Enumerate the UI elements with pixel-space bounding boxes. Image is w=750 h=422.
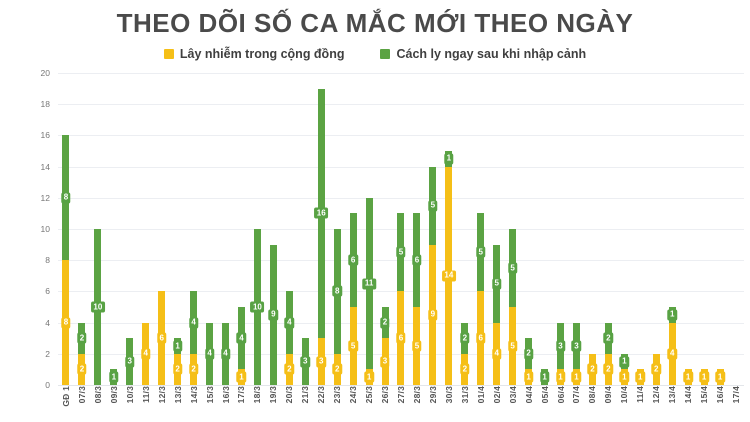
bar-stack: 42: [190, 291, 197, 385]
bar-column[interactable]: 31: [569, 73, 585, 385]
bar-segment-community[interactable]: 1: [238, 369, 245, 385]
bar-segment-community[interactable]: 5: [350, 307, 357, 385]
bar-column[interactable]: 2: [584, 73, 600, 385]
bar-segment-quarantine[interactable]: 3: [573, 323, 580, 370]
x-axis-tick: 29/3: [425, 386, 441, 422]
bar-stack: 21: [525, 338, 532, 385]
bar-value-label: 2: [524, 348, 533, 359]
bar-stack: 22: [461, 323, 468, 385]
bar-column[interactable]: 12: [170, 73, 186, 385]
y-axis-tick: 12: [41, 193, 50, 203]
bar-column[interactable]: 4: [218, 73, 234, 385]
bar-segment-community[interactable]: 2: [334, 354, 341, 385]
bar-column[interactable]: 65: [345, 73, 361, 385]
bar-segment-community[interactable]: 9: [429, 245, 436, 385]
bar-segment-community[interactable]: 2: [605, 354, 612, 385]
x-axis-tick: 19/3: [265, 386, 281, 422]
bar-column[interactable]: 1: [632, 73, 648, 385]
bar-segment-community[interactable]: 3: [318, 338, 325, 385]
bar-column[interactable]: 65: [409, 73, 425, 385]
x-axis-tick: 30/3: [441, 386, 457, 422]
x-axis-label: 07/3: [77, 386, 87, 403]
x-axis-label: 25/3: [364, 386, 374, 403]
bar-segment-community[interactable]: 1: [366, 369, 373, 385]
bar-segment-quarantine[interactable]: 1: [445, 151, 452, 167]
x-axis-label: 08/3: [93, 386, 103, 403]
bar-segment-quarantine[interactable]: 5: [477, 213, 484, 291]
x-axis-tick: 16/3: [218, 386, 234, 422]
bar-column[interactable]: 111: [361, 73, 377, 385]
bar-column[interactable]: 22: [74, 73, 90, 385]
plot-area: 02468101214161820 8822101346124244411094…: [32, 73, 744, 385]
x-axis-tick: 07/4: [569, 386, 585, 422]
bar-value-label: 1: [620, 356, 629, 367]
y-axis-tick: 6: [45, 286, 50, 296]
x-axis-tick: 03/4: [505, 386, 521, 422]
bar-segment-community[interactable]: 1: [621, 369, 628, 385]
bar-column[interactable]: 4: [138, 73, 154, 385]
x-axis-tick: 20/3: [281, 386, 297, 422]
bar-value-label: 14: [442, 270, 456, 281]
bar-stack: 42: [286, 291, 293, 385]
bar-value-label: 1: [572, 372, 581, 383]
bar-column[interactable]: 82: [329, 73, 345, 385]
x-axis-label: 02/4: [492, 386, 502, 403]
bar-segment-quarantine[interactable]: 4: [190, 291, 197, 353]
bar-column[interactable]: 1: [680, 73, 696, 385]
bar-segment-quarantine[interactable]: 6: [350, 213, 357, 307]
bar-value-label: 16: [314, 208, 328, 219]
bar-value-label: 4: [189, 317, 198, 328]
bar-value-label: 5: [476, 247, 485, 258]
bar-stack: 1: [541, 369, 548, 385]
bar-segment-community[interactable]: 1: [525, 369, 532, 385]
x-axis-label: 15/3: [205, 386, 215, 403]
bar-column[interactable]: 10: [249, 73, 265, 385]
bar-value-label: 4: [667, 348, 676, 359]
bar-segment-community[interactable]: 2: [589, 354, 596, 385]
bar-segment-quarantine[interactable]: 6: [413, 213, 420, 307]
bar-value-label: 1: [636, 372, 645, 383]
bar-value-label: 1: [620, 372, 629, 383]
bar-value-label: 2: [652, 364, 661, 375]
legend-label-community: Lây nhiễm trong cộng đồng: [180, 47, 345, 61]
bar-stack: 9: [270, 245, 277, 385]
bar-column[interactable]: 22: [600, 73, 616, 385]
x-axis-label: 20/3: [284, 386, 294, 403]
bar-segment-quarantine[interactable]: 4: [222, 323, 229, 385]
bar-value-label: 1: [667, 309, 676, 320]
x-axis-tick: 25/3: [361, 386, 377, 422]
bar-stack: 4: [206, 323, 213, 385]
bar-value-label: 4: [141, 348, 150, 359]
chart-legend: Lây nhiễm trong cộng đồng Cách ly ngay s…: [0, 47, 750, 61]
y-axis-tick: 2: [45, 349, 50, 359]
bar-segment-quarantine[interactable]: 5: [509, 229, 516, 307]
x-axis-tick: 22/3: [313, 386, 329, 422]
x-axis-label: 22/3: [316, 386, 326, 403]
x-axis-tick: 16/4: [712, 386, 728, 422]
bar-column[interactable]: 11: [616, 73, 632, 385]
bar-segment-community[interactable]: 1: [637, 369, 644, 385]
bar-value-label: 6: [157, 333, 166, 344]
bar-value-label: 2: [77, 333, 86, 344]
x-axis-label: 16/4: [715, 386, 725, 403]
x-axis-tick: 06/4: [553, 386, 569, 422]
bar-segment-community[interactable]: 2: [78, 354, 85, 385]
legend-swatch-community: [164, 49, 174, 59]
bar-column[interactable]: 3: [297, 73, 313, 385]
x-axis-label: 14/4: [683, 386, 693, 403]
x-axis-tick: 28/3: [409, 386, 425, 422]
bar-stack: 65: [413, 213, 420, 385]
x-axis-label: 16/3: [221, 386, 231, 403]
bar-segment-quarantine[interactable]: 5: [493, 245, 500, 323]
x-axis-tick: 05/4: [537, 386, 553, 422]
y-axis-tick: 4: [45, 318, 50, 328]
bar-segment-community[interactable]: 4: [142, 323, 149, 385]
bar-value-label: 3: [572, 341, 581, 352]
bar-stack: 10: [254, 229, 261, 385]
bar-stack: 55: [509, 229, 516, 385]
bar-segment-quarantine[interactable]: 3: [557, 323, 564, 370]
bar-segment-quarantine[interactable]: 10: [94, 229, 101, 385]
x-axis-label: 14/3: [189, 386, 199, 403]
bar-column[interactable]: 88: [58, 73, 74, 385]
x-axis-tick: 10/4: [616, 386, 632, 422]
bar-value-label: 5: [508, 263, 517, 274]
bar-stack: 10: [94, 229, 101, 385]
bar-value-label: 3: [125, 356, 134, 367]
bar-segment-community[interactable]: 5: [413, 307, 420, 385]
x-axis-tick: 09/4: [600, 386, 616, 422]
bar-segment-community[interactable]: 1: [685, 369, 692, 385]
bar-value-label: 1: [109, 372, 118, 383]
bar-stack: 111: [366, 198, 373, 385]
bar-segment-quarantine[interactable]: 2: [605, 323, 612, 354]
bar-stack: 114: [445, 151, 452, 385]
bar-stack: 2: [653, 354, 660, 385]
bar-segment-community[interactable]: 2: [653, 354, 660, 385]
x-axis-tick: 13/3: [170, 386, 186, 422]
bar-segment-quarantine[interactable]: 4: [238, 307, 245, 369]
bar-column[interactable]: 42: [281, 73, 297, 385]
bar-segment-community[interactable]: 2: [461, 354, 468, 385]
bar-segment-community[interactable]: 2: [286, 354, 293, 385]
x-axis: GĐ 107/308/309/310/311/312/313/314/315/3…: [58, 386, 744, 422]
bar-column[interactable]: 163: [313, 73, 329, 385]
bar-stack: 23: [382, 307, 389, 385]
x-axis-label: 10/4: [619, 386, 629, 403]
bar-stack: 82: [334, 229, 341, 385]
x-axis-label: 10/3: [125, 386, 135, 403]
bar-value-label: 5: [412, 341, 421, 352]
bar-column[interactable]: 56: [393, 73, 409, 385]
x-axis-label: 26/3: [380, 386, 390, 403]
x-axis-label: 31/3: [460, 386, 470, 403]
bar-stack: 11: [621, 354, 628, 385]
bar-segment-quarantine[interactable]: 8: [62, 135, 69, 260]
bar-value-label: 6: [348, 255, 357, 266]
bar-value-label: 5: [348, 341, 357, 352]
bar-segment-quarantine[interactable]: 8: [334, 229, 341, 354]
bar-value-label: 8: [332, 286, 341, 297]
x-axis-label: 09/3: [109, 386, 119, 403]
bar-segment-community[interactable]: 6: [397, 291, 404, 385]
bar-value-label: 1: [699, 372, 708, 383]
bar-value-label: 2: [189, 364, 198, 375]
x-axis-label: 19/3: [268, 386, 278, 403]
x-axis-tick: 17/4: [728, 386, 744, 422]
bar-value-label: 2: [173, 364, 182, 375]
bar-value-label: 8: [61, 317, 70, 328]
x-axis-label: 29/3: [428, 386, 438, 403]
bar-segment-quarantine[interactable]: 1: [621, 354, 628, 370]
bar-value-label: 9: [428, 309, 437, 320]
bar-value-label: 8: [61, 192, 70, 203]
legend-swatch-quarantine: [380, 49, 390, 59]
x-axis-tick: 24/3: [345, 386, 361, 422]
bar-segment-community[interactable]: 2: [190, 354, 197, 385]
bar-column[interactable]: 22: [457, 73, 473, 385]
bar-stack: 1: [701, 369, 708, 385]
bar-column[interactable]: 3: [122, 73, 138, 385]
bar-value-label: 4: [285, 317, 294, 328]
x-axis-label: 12/3: [157, 386, 167, 403]
bar-column[interactable]: 6: [154, 73, 170, 385]
bar-value-label: 1: [683, 372, 692, 383]
bar-column[interactable]: 54: [489, 73, 505, 385]
bar-segment-quarantine[interactable]: 10: [254, 229, 261, 385]
x-axis-tick: 09/3: [106, 386, 122, 422]
legend-item-community[interactable]: Lây nhiễm trong cộng đồng: [164, 47, 345, 61]
bar-value-label: 3: [380, 356, 389, 367]
bar-segment-quarantine[interactable]: 2: [525, 338, 532, 369]
x-axis-label: 30/3: [444, 386, 454, 403]
x-axis-label: 12/4: [651, 386, 661, 403]
x-axis-tick: 31/3: [457, 386, 473, 422]
bar-column[interactable]: 21: [521, 73, 537, 385]
bar-value-label: 5: [396, 247, 405, 258]
x-axis-label: 03/4: [508, 386, 518, 403]
bar-segment-quarantine[interactable]: 4: [286, 291, 293, 353]
bar-stack: 3: [126, 338, 133, 385]
bar-value-label: 5: [428, 200, 437, 211]
y-axis-tick: 8: [45, 255, 50, 265]
x-axis-label: 13/3: [173, 386, 183, 403]
x-axis-tick: 12/3: [154, 386, 170, 422]
chart-title: THEO DÕI SỐ CA MẮC MỚI THEO NGÀY: [0, 8, 750, 39]
x-axis-tick: 11/4: [632, 386, 648, 422]
bar-stack: 14: [669, 307, 676, 385]
bar-stack: 22: [605, 323, 612, 385]
bar-value-label: 2: [604, 364, 613, 375]
bar-stack: 12: [174, 338, 181, 385]
bar-column[interactable]: 114: [441, 73, 457, 385]
bar-segment-quarantine[interactable]: 3: [126, 338, 133, 385]
x-axis-label: 13/4: [667, 386, 677, 403]
x-axis-tick: 13/4: [664, 386, 680, 422]
bar-column[interactable]: 10: [90, 73, 106, 385]
bar-segment-community[interactable]: 1: [717, 369, 724, 385]
bar-stack: 41: [238, 307, 245, 385]
y-axis-tick: 14: [41, 162, 50, 172]
bar-segment-community[interactable]: 1: [701, 369, 708, 385]
bar-stack: 31: [573, 323, 580, 385]
bar-value-label: 3: [301, 356, 310, 367]
x-axis-tick: 15/4: [696, 386, 712, 422]
x-axis-label: 17/3: [236, 386, 246, 403]
x-axis-label: 15/4: [699, 386, 709, 403]
x-axis-label: 06/4: [556, 386, 566, 403]
x-axis-label: 01/4: [476, 386, 486, 403]
x-axis-label: 11/3: [141, 386, 151, 403]
bar-column[interactable]: 1: [537, 73, 553, 385]
bar-value-label: 1: [556, 372, 565, 383]
bar-segment-quarantine[interactable]: 9: [270, 245, 277, 385]
bar-column[interactable]: 1: [712, 73, 728, 385]
x-axis-label: 11/4: [635, 386, 645, 403]
legend-label-quarantine: Cách ly ngay sau khi nhập cảnh: [396, 47, 586, 61]
x-axis-label: 21/3: [300, 386, 310, 403]
chart-container: THEO DÕI SỐ CA MẮC MỚI THEO NGÀY Lây nhi…: [0, 0, 750, 422]
x-axis-tick: 08/3: [90, 386, 106, 422]
bar-stack: 3: [302, 338, 309, 385]
bar-value-label: 2: [460, 333, 469, 344]
x-axis-label: 05/4: [540, 386, 550, 403]
bar-column[interactable]: 2: [648, 73, 664, 385]
bar-value-label: 6: [476, 333, 485, 344]
bar-series: 8822101346124244411094231638265111235665…: [58, 73, 744, 385]
bar-value-label: 4: [221, 348, 230, 359]
x-axis-tick: 12/4: [648, 386, 664, 422]
x-axis-tick: 14/3: [186, 386, 202, 422]
bar-segment-quarantine[interactable]: 2: [461, 323, 468, 354]
bar-segment-community[interactable]: 4: [493, 323, 500, 385]
bar-column[interactable]: 55: [505, 73, 521, 385]
bar-column[interactable]: [728, 73, 744, 385]
bar-column[interactable]: 1: [106, 73, 122, 385]
x-axis-tick: GĐ 1: [58, 386, 74, 422]
bar-segment-community[interactable]: 1: [557, 369, 564, 385]
x-axis-label: 09/4: [603, 386, 613, 403]
bar-stack: 59: [429, 167, 436, 385]
bar-segment-community[interactable]: 2: [174, 354, 181, 385]
bar-value-label: 6: [412, 255, 421, 266]
bar-segment-quarantine[interactable]: 1: [110, 369, 117, 385]
y-axis-tick: 0: [45, 380, 50, 390]
bar-segment-quarantine[interactable]: 2: [382, 307, 389, 338]
x-axis-tick: 27/3: [393, 386, 409, 422]
bar-segment-community[interactable]: 5: [509, 307, 516, 385]
bar-column[interactable]: 14: [664, 73, 680, 385]
bar-value-label: 1: [364, 372, 373, 383]
bar-stack: 56: [397, 213, 404, 385]
x-axis-tick: 21/3: [297, 386, 313, 422]
legend-item-quarantine[interactable]: Cách ly ngay sau khi nhập cảnh: [380, 47, 586, 61]
x-axis-tick: 15/3: [202, 386, 218, 422]
x-axis-label: 17/4: [731, 386, 741, 403]
x-axis-label: 08/4: [587, 386, 597, 403]
bar-segment-community[interactable]: 8: [62, 260, 69, 385]
bar-column[interactable]: 9: [265, 73, 281, 385]
bar-value-label: 1: [540, 372, 549, 383]
x-axis-label: 24/3: [348, 386, 358, 403]
bar-column[interactable]: 31: [553, 73, 569, 385]
bar-segment-community[interactable]: 4: [669, 323, 676, 385]
y-axis-tick: 16: [41, 130, 50, 140]
y-axis-tick: 10: [41, 224, 50, 234]
bar-value-label: 5: [492, 278, 501, 289]
bar-column[interactable]: 56: [473, 73, 489, 385]
bar-stack: 1: [717, 369, 724, 385]
bar-stack: 4: [142, 323, 149, 385]
bar-value-label: 5: [508, 341, 517, 352]
x-axis-tick: 04/4: [521, 386, 537, 422]
bar-value-label: 1: [715, 372, 724, 383]
bar-segment-community[interactable]: 14: [445, 167, 452, 385]
bar-stack: 88: [62, 135, 69, 385]
bar-stack: 1: [637, 369, 644, 385]
x-axis-tick: 07/3: [74, 386, 90, 422]
bar-value-label: 2: [588, 364, 597, 375]
x-axis-tick: 10/3: [122, 386, 138, 422]
bar-value-label: 1: [444, 153, 453, 164]
bar-column[interactable]: 23: [377, 73, 393, 385]
bar-segment-quarantine[interactable]: 4: [206, 323, 213, 385]
bar-stack: 54: [493, 245, 500, 385]
bar-column[interactable]: 4: [202, 73, 218, 385]
bar-segment-quarantine[interactable]: 1: [541, 369, 548, 385]
bar-segment-quarantine[interactable]: 11: [366, 198, 373, 370]
bar-segment-quarantine[interactable]: 16: [318, 89, 325, 339]
bar-segment-quarantine[interactable]: 3: [302, 338, 309, 385]
bar-column[interactable]: 41: [233, 73, 249, 385]
bar-segment-community[interactable]: 1: [573, 369, 580, 385]
bar-segment-quarantine[interactable]: 1: [669, 307, 676, 323]
bar-column[interactable]: 59: [425, 73, 441, 385]
bar-segment-community[interactable]: 6: [158, 291, 165, 385]
bar-value-label: 2: [285, 364, 294, 375]
bar-value-label: 2: [460, 364, 469, 375]
x-axis-tick: 14/4: [680, 386, 696, 422]
bar-stack: 2: [589, 354, 596, 385]
bar-value-label: 6: [396, 333, 405, 344]
x-axis-tick: 11/3: [138, 386, 154, 422]
x-axis-label: 04/4: [524, 386, 534, 403]
bar-segment-quarantine[interactable]: 2: [78, 323, 85, 354]
x-axis-label: 18/3: [252, 386, 262, 403]
bar-segment-quarantine[interactable]: 5: [429, 167, 436, 245]
bar-value-label: 2: [604, 333, 613, 344]
bar-column[interactable]: 1: [696, 73, 712, 385]
bar-segment-community[interactable]: 3: [382, 338, 389, 385]
bar-value-label: 9: [269, 309, 278, 320]
bar-segment-community[interactable]: 6: [477, 291, 484, 385]
bar-stack: 65: [350, 213, 357, 385]
bar-value-label: 3: [316, 356, 325, 367]
y-axis: 02468101214161820: [32, 73, 54, 385]
bar-value-label: 4: [205, 348, 214, 359]
bar-segment-quarantine[interactable]: 5: [397, 213, 404, 291]
bar-value-label: 2: [380, 317, 389, 328]
bar-value-label: 1: [173, 341, 182, 352]
bar-value-label: 10: [250, 302, 264, 313]
x-axis-tick: 23/3: [329, 386, 345, 422]
bar-segment-quarantine[interactable]: 1: [174, 338, 181, 354]
bar-column[interactable]: 42: [186, 73, 202, 385]
bar-value-label: 10: [91, 302, 105, 313]
